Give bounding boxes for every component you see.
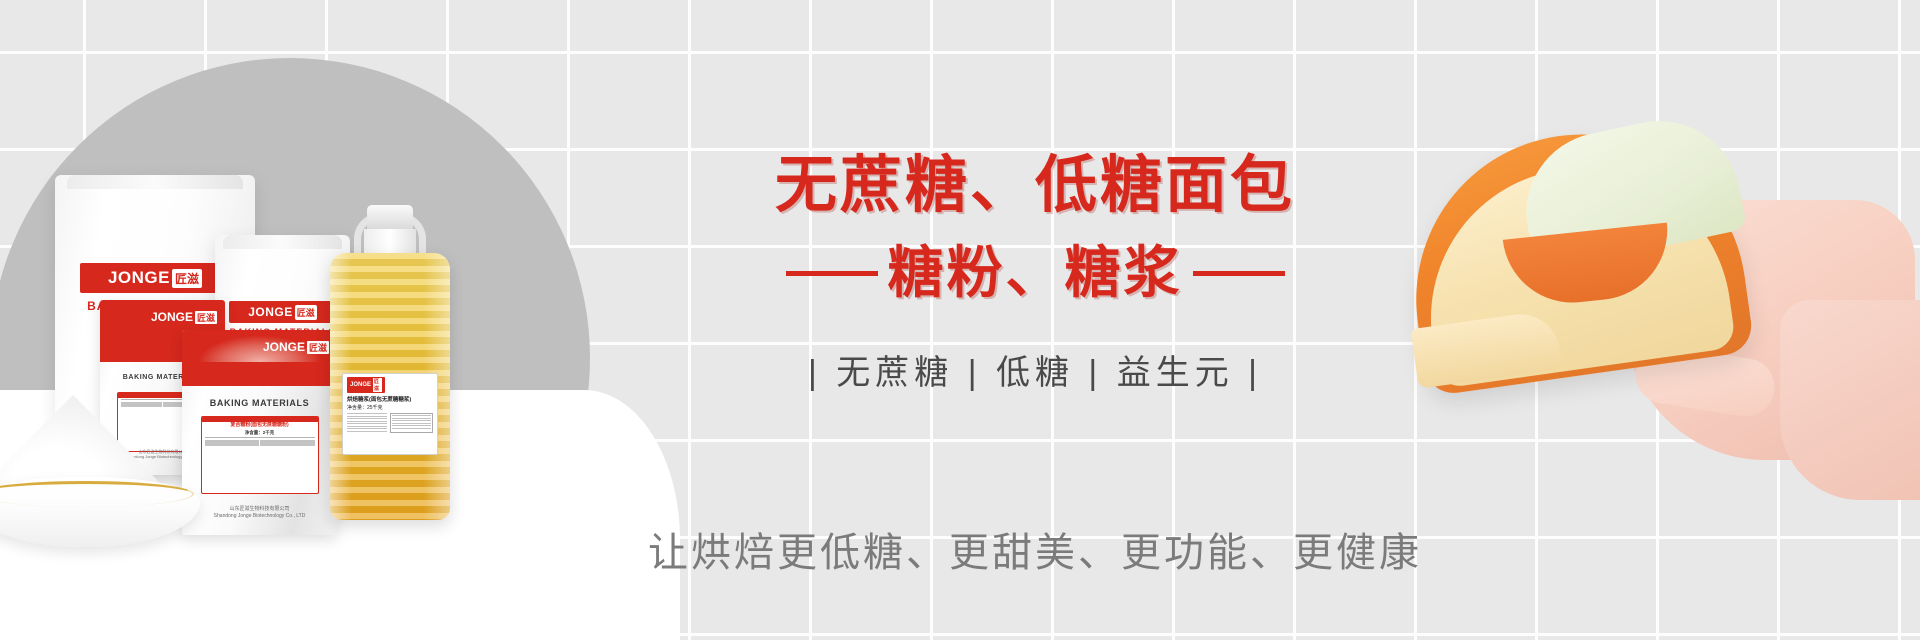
- brand-logo: JONGE 匠滋: [80, 263, 230, 293]
- slogan: 让烘焙更低糖、更甜美、更功能、更健康: [550, 520, 1520, 578]
- label-rule: [205, 437, 315, 438]
- label-ingredients-column: [347, 413, 387, 433]
- brand-name-cn: 匠滋: [307, 341, 329, 354]
- brand-name-en: JONGE: [248, 305, 293, 319]
- rule-left: [786, 271, 878, 276]
- promo-banner: JONGE 匠滋 BAKING MATERIALS 山东匠滋 JONGE 匠滋: [0, 0, 1920, 640]
- label-nutrition-grid: [343, 413, 437, 433]
- brand-name-cn: 匠滋: [172, 269, 202, 288]
- brand-logo: JONGE 匠滋: [151, 310, 217, 324]
- brand-name-en: JONGE: [350, 382, 371, 388]
- brand-name-en: JONGE: [263, 340, 305, 354]
- brand-name-en: JONGE: [151, 310, 193, 324]
- brand-name-cn: 匠滋: [373, 378, 382, 392]
- product-sachet-large: JONGE 匠滋 BAKING MATERIALS 复合糖粉(面包无蔗糖糖粉) …: [182, 330, 337, 535]
- brand-logo: JONGE 匠滋: [229, 301, 337, 323]
- bottle-cap: [367, 205, 413, 231]
- product-info-label: 复合糖粉(面包无蔗糖糖粉) 净含量：2千克: [201, 416, 319, 494]
- syrup-bottle: JONGE 匠滋 烘焙糖浆(面包无蔗糖糖浆) 净含量：25千克: [330, 205, 450, 520]
- feature-tagline: | 无蔗糖 | 低糖 | 益生元 |: [640, 345, 1430, 394]
- label-nutrition-table: [390, 413, 434, 433]
- brand-logo: JONGE 匠滋: [263, 340, 329, 354]
- subheadline: 糖粉、糖浆: [888, 245, 1183, 301]
- sugar-powder-bowl: [0, 395, 200, 555]
- page-title: 无蔗糖、低糖面包: [640, 155, 1430, 217]
- label-nutrition-grid: [202, 439, 318, 447]
- label-title: 烘焙糖浆(面包无蔗糖糖浆): [343, 395, 437, 403]
- label-weight: 净含量：2千克: [202, 430, 318, 437]
- brand-logo: JONGE 匠滋: [347, 377, 385, 393]
- brand-name-cn: 匠滋: [195, 311, 217, 324]
- baking-materials-label: BAKING MATERIALS: [210, 398, 309, 408]
- label-weight: 净含量：25千克: [343, 403, 437, 413]
- copy-block: 无蔗糖、低糖面包 糖粉、糖浆 | 无蔗糖 | 低糖 | 益生元 | 让烘焙更低糖…: [640, 0, 1430, 640]
- subheadline-row: 糖粉、糖浆: [640, 245, 1430, 301]
- bottle-label: JONGE 匠滋 烘焙糖浆(面包无蔗糖糖浆) 净含量：25千克: [342, 373, 438, 455]
- rule-right: [1193, 271, 1285, 276]
- company-footer-en: Shandong Jonge Biotechnology Co., LTD: [214, 513, 306, 520]
- wrist: [1780, 300, 1920, 500]
- label-title: 复合糖粉(面包无蔗糖糖粉): [202, 422, 318, 430]
- product-group: JONGE 匠滋 BAKING MATERIALS 山东匠滋 JONGE 匠滋: [0, 0, 560, 640]
- bread-slice: [1410, 135, 1740, 375]
- brand-name-en: JONGE: [108, 268, 170, 288]
- hand-holding-bread-image: [1380, 60, 1920, 540]
- company-footer: 山东匠滋生物科技有限公司 Shandong Jonge Biotechnolog…: [214, 506, 306, 519]
- sachet-top-band: [182, 330, 337, 386]
- brand-name-cn: 匠滋: [295, 305, 317, 320]
